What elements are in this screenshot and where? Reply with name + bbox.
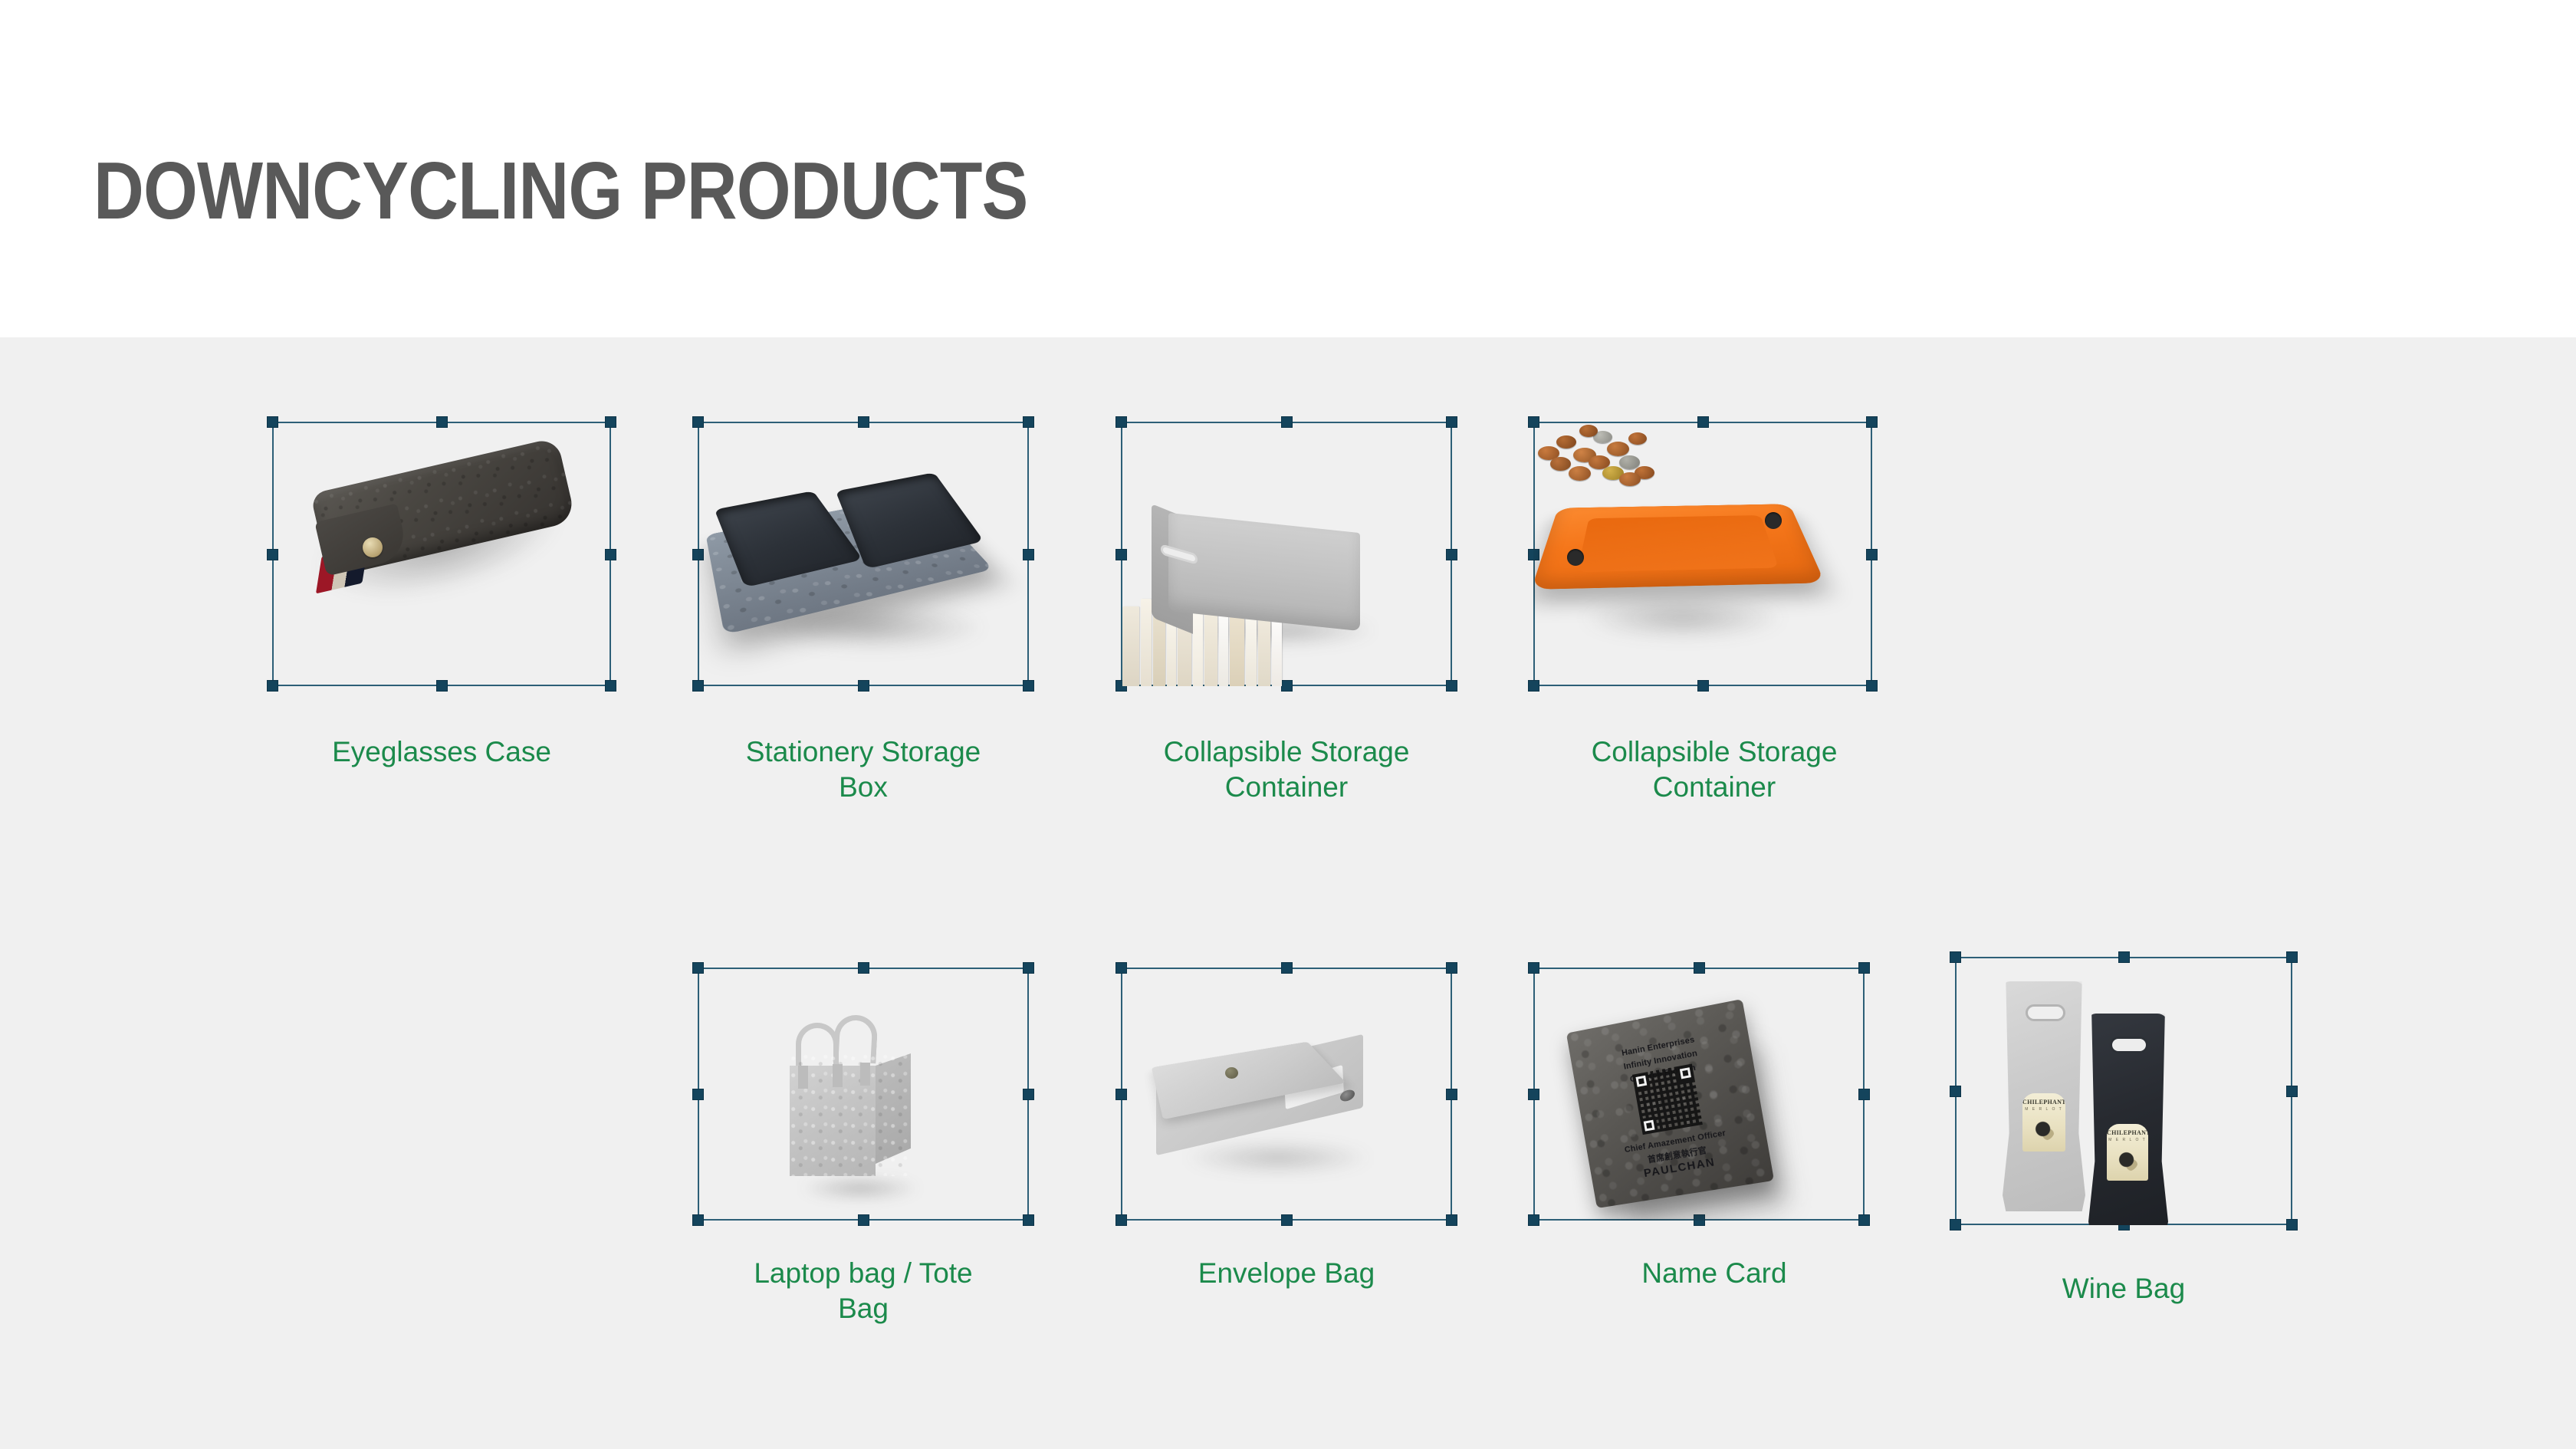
qr-finder-tl xyxy=(1632,1072,1651,1090)
product-image-name-card[interactable]: Hanin Enterprises Infinity Innovation C-… xyxy=(1533,968,1865,1221)
elephant-emblem-icon xyxy=(2033,1119,2055,1141)
drop-shadow xyxy=(1182,1141,1374,1175)
tray-inner-base xyxy=(1577,515,1779,572)
bottle-label-dark: CHILEPHANT M E R L O T xyxy=(2107,1124,2148,1181)
carry-handle-cutout-dark xyxy=(2110,1037,2148,1053)
product-image-envelope-bag[interactable] xyxy=(1121,968,1452,1221)
drop-shadow xyxy=(799,1176,922,1201)
product-label-collapsible-storage-container-tray: Collapsible Storage Container xyxy=(1533,734,1895,806)
qr-finder-tr xyxy=(1676,1064,1694,1083)
bottle-label-light: CHILEPHANT M E R L O T xyxy=(2022,1093,2065,1152)
product-label-laptop-tote-bag: Laptop bag / Tote Bag xyxy=(682,1256,1044,1327)
handle-tab-3 xyxy=(860,1063,870,1086)
qr-finder-bl xyxy=(1640,1116,1658,1135)
product-card-wine-bag[interactable]: CHILEPHANT M E R L O T CHILEPHANT M E R … xyxy=(1955,957,2292,1225)
carry-handle-cutout-light xyxy=(2026,1004,2065,1021)
product-image-stationery-storage-box[interactable] xyxy=(698,422,1029,686)
product-label-stationery-storage-box: Stationery Storage Box xyxy=(682,734,1044,806)
product-image-collapsible-storage-container-books[interactable] xyxy=(1121,422,1452,686)
felt-basket xyxy=(1168,513,1360,631)
elephant-emblem-icon xyxy=(2117,1150,2138,1171)
product-card-name-card[interactable]: Hanin Enterprises Infinity Innovation C-… xyxy=(1533,968,1865,1221)
bottle-brand: CHILEPHANT xyxy=(2022,1099,2065,1106)
product-image-wine-bag[interactable]: CHILEPHANT M E R L O T CHILEPHANT M E R … xyxy=(1955,957,2292,1225)
product-image-eyeglasses-case[interactable] xyxy=(272,422,611,686)
handle-tab-2 xyxy=(833,1064,843,1087)
product-card-eyeglasses-case[interactable] xyxy=(272,422,611,686)
qr-code-icon xyxy=(1632,1064,1703,1135)
product-image-collapsible-storage-container-tray[interactable] xyxy=(1533,422,1872,686)
product-card-collapsible-storage-container-books[interactable] xyxy=(1121,422,1452,686)
corner-snap-right xyxy=(1765,512,1782,529)
brass-snap-button xyxy=(363,537,383,557)
page-title: DOWNCYCLING PRODUCTS xyxy=(94,150,1027,232)
bottle-variety: M E R L O T xyxy=(2107,1138,2148,1142)
handle-tab-1 xyxy=(798,1066,808,1089)
product-card-envelope-bag[interactable] xyxy=(1121,968,1452,1221)
product-card-stationery-storage-box[interactable] xyxy=(698,422,1029,686)
bottle-brand: CHILEPHANT xyxy=(2107,1129,2148,1136)
product-label-envelope-bag: Envelope Bag xyxy=(1106,1256,1467,1291)
drop-shadow xyxy=(1579,596,1786,639)
product-card-collapsible-storage-container-tray[interactable] xyxy=(1533,422,1872,686)
product-label-eyeglasses-case: Eyeglasses Case xyxy=(253,734,630,770)
snap-button xyxy=(1225,1067,1238,1079)
name-card-print: Hanin Enterprises Infinity Innovation C-… xyxy=(1566,999,1774,1208)
product-label-name-card: Name Card xyxy=(1533,1256,1895,1291)
bottle-variety: M E R L O T xyxy=(2022,1107,2065,1112)
product-label-collapsible-storage-container-books: Collapsible Storage Container xyxy=(1106,734,1467,806)
product-card-laptop-tote-bag[interactable] xyxy=(698,968,1029,1221)
corner-snap-left xyxy=(1567,549,1584,566)
product-label-wine-bag: Wine Bag xyxy=(1955,1271,2292,1306)
product-image-laptop-tote-bag[interactable] xyxy=(698,968,1029,1221)
